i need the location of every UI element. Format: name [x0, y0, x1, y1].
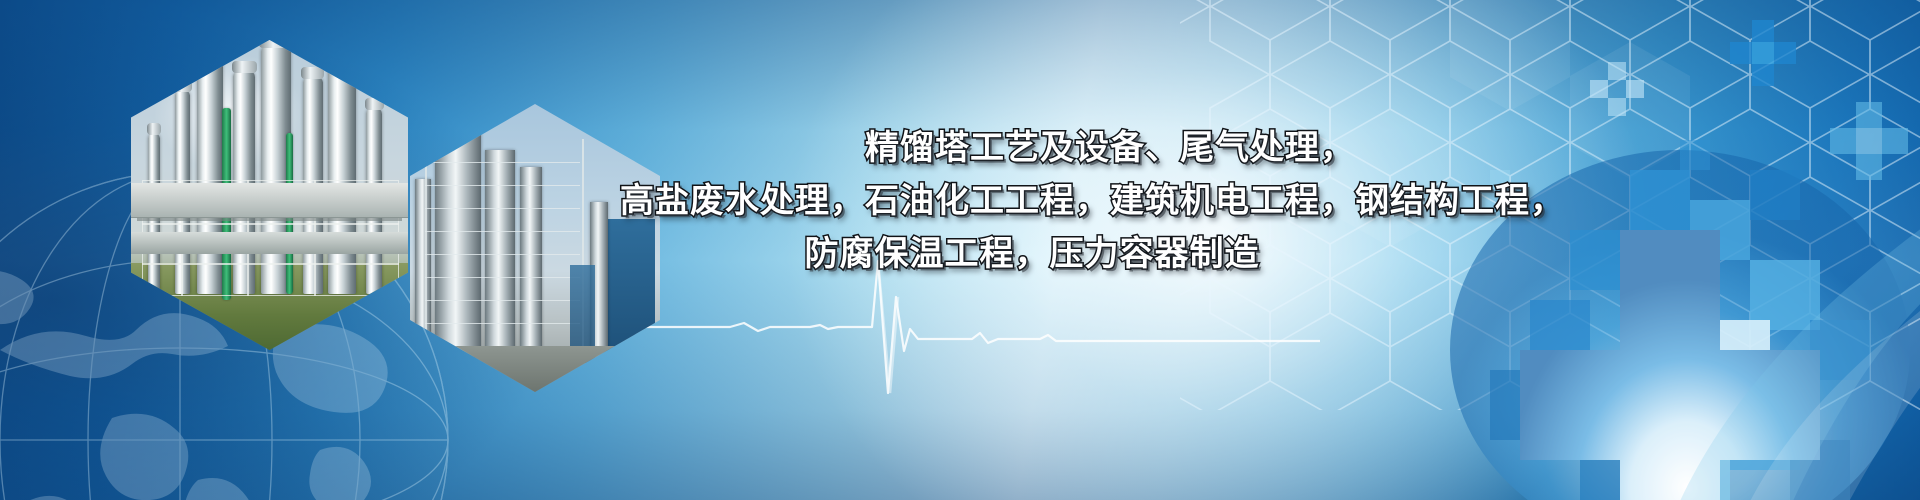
headline-line-3: 防腐保温工程，压力容器制造: [644, 228, 1420, 281]
headline-block: 精馏塔工艺及设备、尾气处理， 高盐废水处理，石油化工工程，建筑机电工程，钢结构工…: [620, 122, 1420, 281]
headline-line-2: 高盐废水处理，石油化工工程，建筑机电工程，钢结构工程，: [620, 175, 1420, 228]
headline-line-1: 精馏塔工艺及设备、尾气处理，: [800, 122, 1420, 175]
promo-banner: 精馏塔工艺及设备、尾气处理， 高盐废水处理，石油化工工程，建筑机电工程，钢结构工…: [0, 0, 1920, 500]
